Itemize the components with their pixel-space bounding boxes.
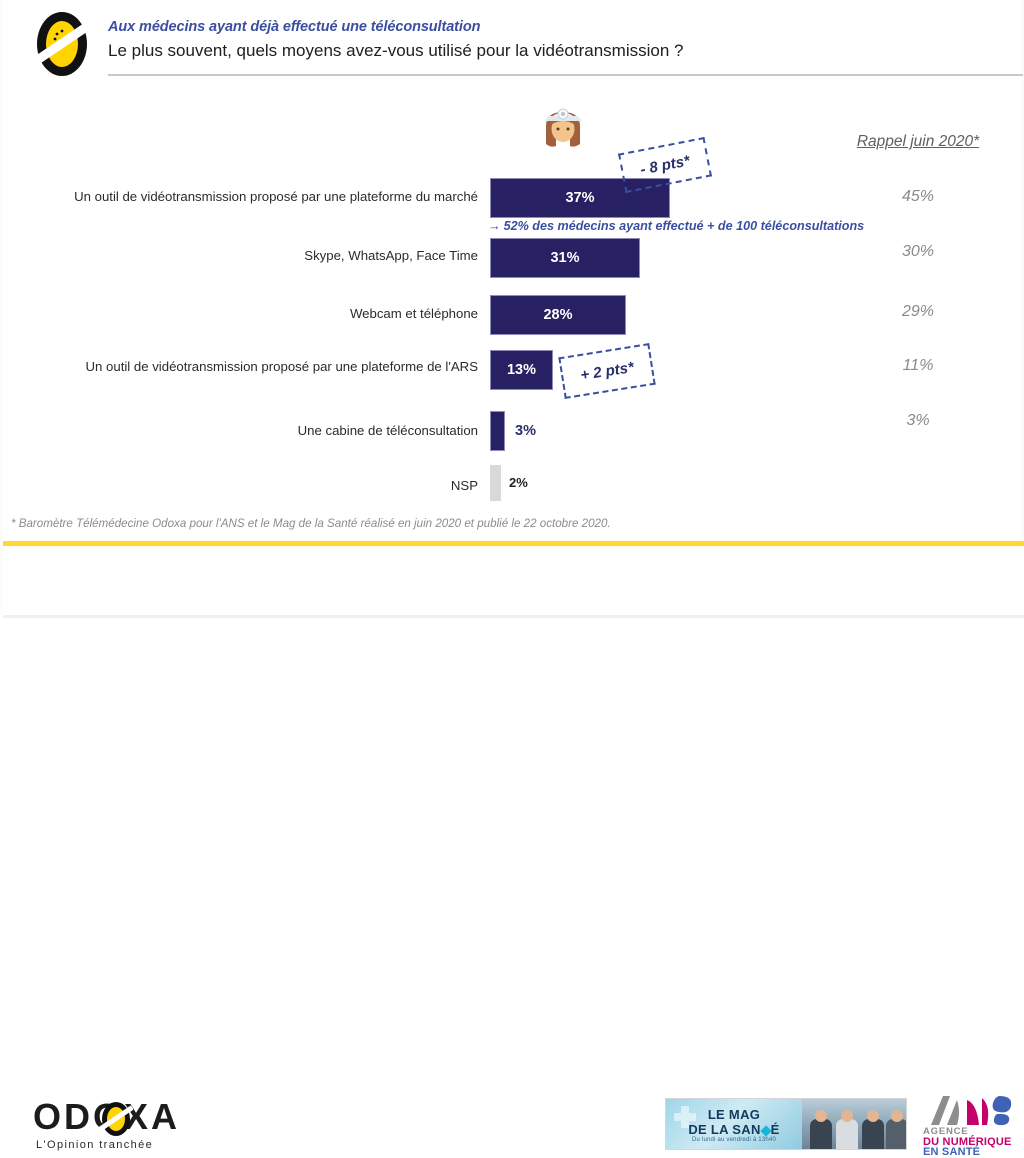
mag-banner-title: LE MAG DE LA SANÉ	[666, 1107, 802, 1137]
arrow-right-icon: →	[488, 219, 501, 233]
ans-text-line2: DU NUMÉRIQUE	[923, 1137, 1023, 1147]
mag-banner-photo	[802, 1099, 906, 1149]
sub-annotation: →52% des médecins ayant effectué + de 10…	[488, 219, 864, 233]
mag-person-2	[836, 1119, 858, 1149]
mag-person-3	[862, 1119, 884, 1149]
bar-value-0: 37%	[490, 190, 670, 206]
mag-person-1	[810, 1119, 832, 1149]
ans-text-line3: EN SANTÉ	[923, 1147, 1023, 1157]
bar-5	[490, 465, 501, 501]
bar-value-5: 2%	[509, 475, 528, 490]
ans-mark-icon	[927, 1094, 1019, 1126]
odoxa-footer-logo: ODOXA L'Opinion tranchée	[33, 1098, 203, 1154]
callout-minus-8-pts: - 8 pts*	[618, 137, 712, 193]
odoxa-tagline: L'Opinion tranchée	[36, 1139, 153, 1151]
mag-diamond-icon	[760, 1125, 771, 1136]
category-label-2: Webcam et téléphone	[350, 306, 478, 322]
bar-value-2: 28%	[490, 307, 626, 323]
mag-title-line1: LE MAG	[708, 1107, 760, 1122]
mag-person-4	[886, 1119, 906, 1149]
sub-annotation-text: 52% des médecins ayant effectué + de 100…	[504, 219, 865, 233]
slide-footer: ODOXA L'Opinion tranchée LE MAG DE LA SA…	[3, 546, 1024, 618]
mag-banner-left: LE MAG DE LA SANÉ Du lundi au vendredi à…	[666, 1099, 802, 1149]
bar-value-1: 31%	[490, 250, 640, 266]
ans-logo: AGENCE DU NUMÉRIQUE EN SANTÉ	[923, 1094, 1023, 1156]
callout-plus-2-pts: + 2 pts*	[558, 343, 655, 399]
bar-4	[490, 411, 505, 451]
category-label-0: Un outil de vidéotransmission proposé pa…	[74, 189, 478, 205]
footnote: * Baromètre Télémédecine Odoxa pour l'AN…	[11, 517, 611, 530]
ans-logo-text: AGENCE DU NUMÉRIQUE EN SANTÉ	[923, 1127, 1023, 1157]
bar-value-4: 3%	[515, 423, 536, 439]
mag-title-line2a: DE LA SAN	[688, 1122, 760, 1137]
slide-root: Aux médecins ayant déjà effectué une tél…	[0, 0, 1024, 615]
category-label-3: Un outil de vidéotransmission proposé pa…	[86, 359, 479, 375]
category-label-1: Skype, WhatsApp, Face Time	[304, 248, 478, 264]
mag-banner-subtitle: Du lundi au vendredi à 13h40	[666, 1137, 802, 1143]
mag-title-line2b: É	[771, 1122, 780, 1137]
odoxa-wordmark-o-icon	[99, 1101, 133, 1137]
category-label-4: Une cabine de téléconsultation	[298, 423, 478, 439]
ans-text-line1: AGENCE	[923, 1127, 1023, 1137]
bar-value-3: 13%	[490, 362, 553, 378]
category-label-5: NSP	[451, 478, 478, 494]
le-mag-de-la-sante-banner: LE MAG DE LA SANÉ Du lundi au vendredi à…	[665, 1098, 907, 1150]
